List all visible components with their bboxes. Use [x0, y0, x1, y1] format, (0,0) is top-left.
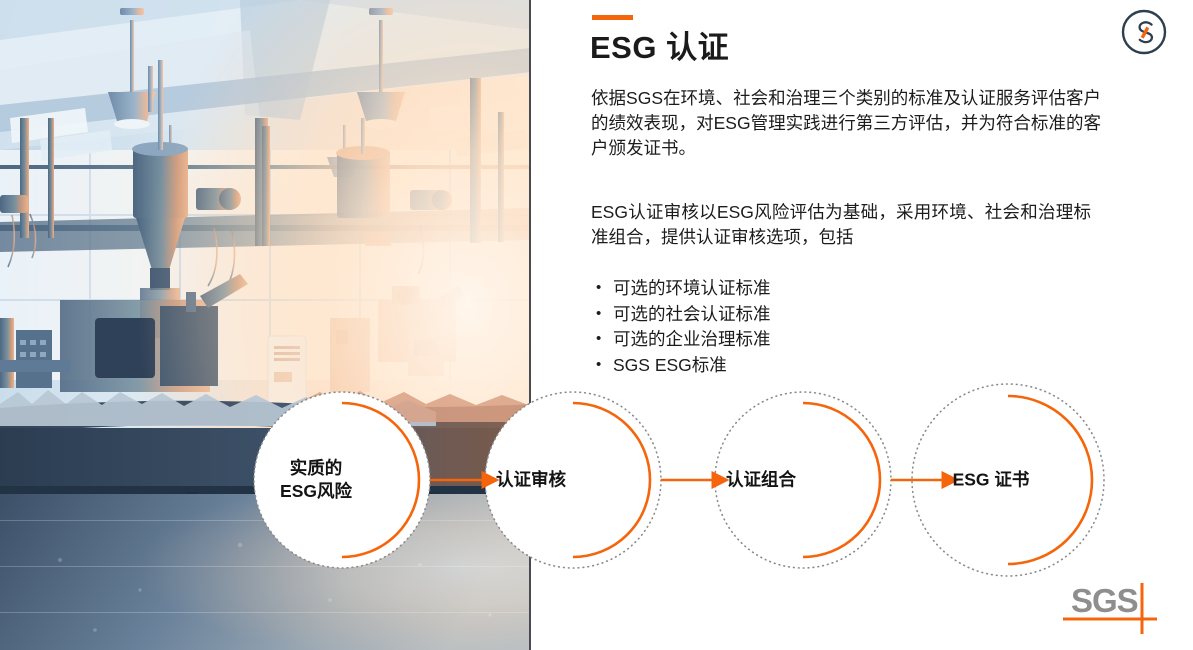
standards-bullet-list: 可选的环境认证标准 可选的社会认证标准 可选的企业治理标准 SGS ESG标准: [595, 276, 771, 378]
list-item: 可选的社会认证标准: [595, 302, 771, 328]
node-label-certification-combo: 认证组合: [726, 469, 796, 492]
list-item: 可选的环境认证标准: [595, 276, 771, 302]
sgs-logo: SGS: [1063, 576, 1171, 638]
content-panel: ESG 认证 依据SGS在环境、社会和治理三个类别的标准及认证服务评估客户的绩效…: [533, 0, 1193, 650]
sgs-s-circle-icon: [1119, 7, 1169, 57]
node-label-material-esg-risk: 实质的 ESG风险: [280, 457, 352, 503]
list-item: 可选的企业治理标准: [595, 327, 771, 353]
intro-paragraph: 依据SGS在环境、社会和治理三个类别的标准及认证服务评估客户的绩效表现，对ESG…: [591, 86, 1101, 161]
title-accent-bar: [592, 15, 633, 20]
node-label-esg-certificate: ESG 证书: [953, 469, 1030, 492]
slide-root: ESG 认证 依据SGS在环境、社会和治理三个类别的标准及认证服务评估客户的绩效…: [0, 0, 1193, 650]
page-title: ESG 认证: [590, 22, 729, 67]
detail-paragraph: ESG认证审核以ESG风险评估为基础，采用环境、社会和治理标准组合，提供认证审核…: [591, 200, 1091, 250]
svg-text:SGS: SGS: [1071, 582, 1138, 619]
factory-interior-photo: [0, 0, 531, 650]
list-item: SGS ESG标准: [595, 353, 771, 379]
node-label-certification-audit: 认证审核: [496, 469, 566, 492]
